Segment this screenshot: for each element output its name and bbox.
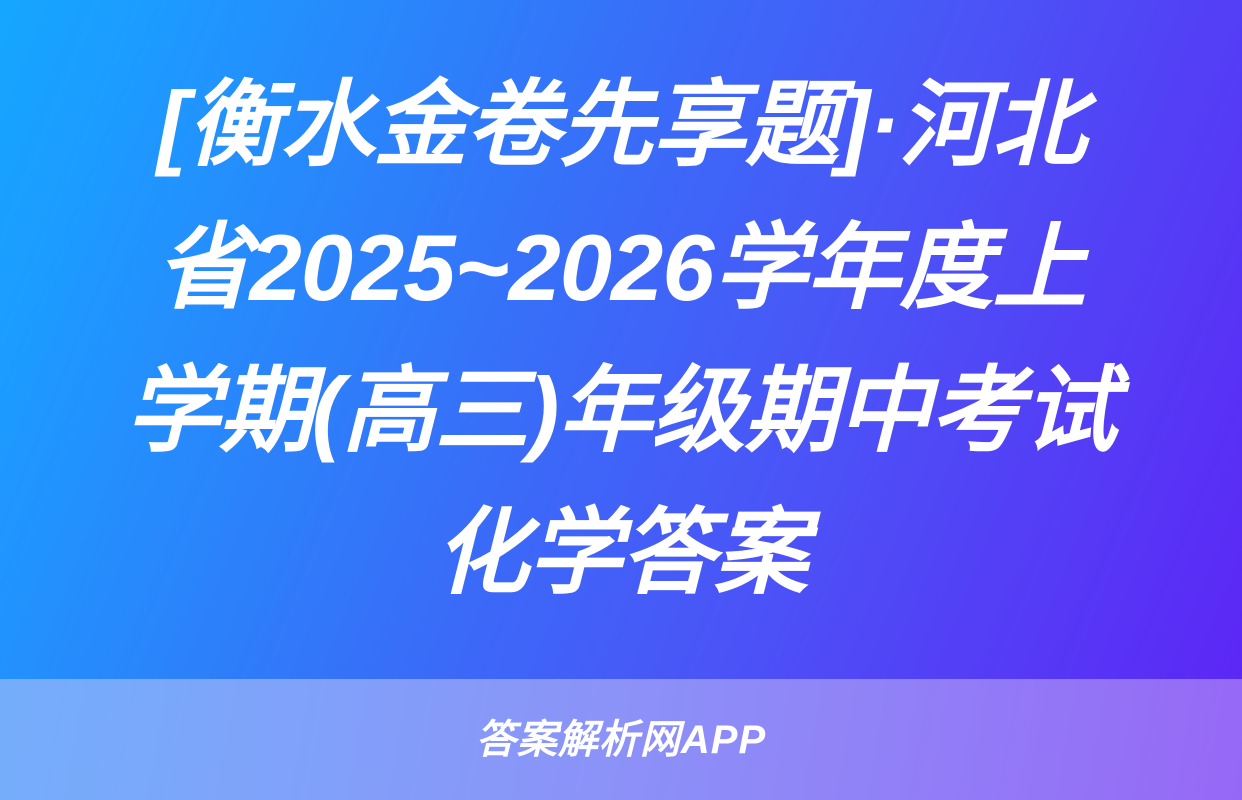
title-line-1: [衡水金卷先享题]·河北: [116, 54, 1126, 197]
title-line-3: 学期(高三)年级期中考试: [116, 340, 1126, 483]
title-line-2: 省2025~2026学年度上: [116, 197, 1126, 340]
footer-brand-band: 答案解析网APP: [0, 679, 1242, 800]
poster-hero-gradient: [衡水金卷先享题]·河北 省2025~2026学年度上 学期(高三)年级期中考试…: [0, 0, 1242, 679]
answer-cover-poster: [衡水金卷先享题]·河北 省2025~2026学年度上 学期(高三)年级期中考试…: [0, 0, 1242, 800]
title-line-4-subject: 化学答案: [116, 482, 1126, 625]
brand-watermark-label: 答案解析网APP: [476, 720, 766, 760]
page-title: [衡水金卷先享题]·河北 省2025~2026学年度上 学期(高三)年级期中考试…: [116, 54, 1126, 626]
